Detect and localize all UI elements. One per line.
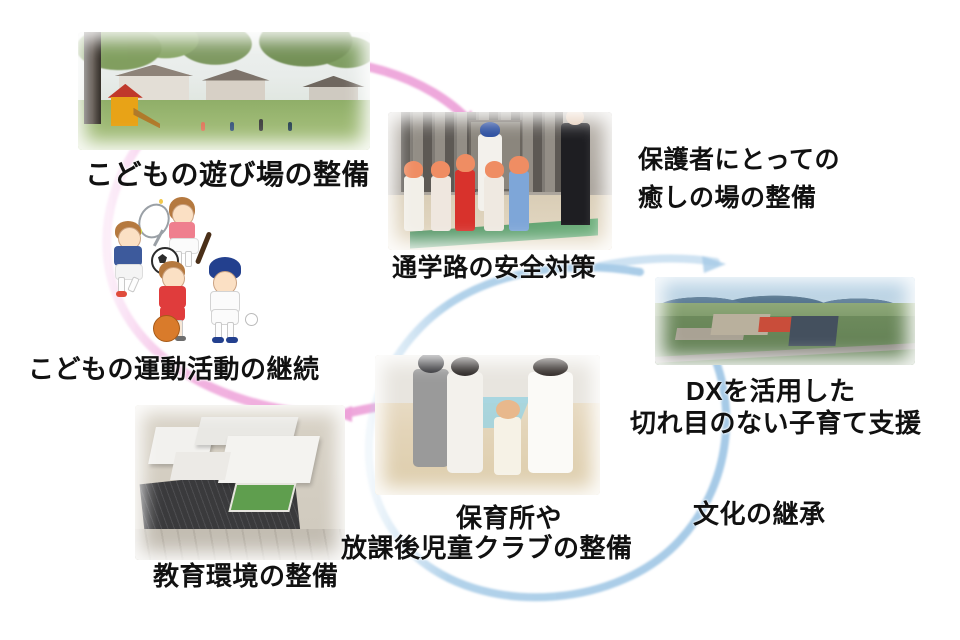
diagram-canvas: こどもの遊び場の整備 通学路の安全対策 保護者にとっての 癒しの場の整備 こども… bbox=[0, 0, 960, 640]
label-parent-relax-line2: 癒しの場の整備 bbox=[638, 184, 817, 214]
label-sports-activity: こどもの運動活動の継続 bbox=[28, 354, 320, 385]
label-playground: こどもの遊び場の整備 bbox=[85, 158, 370, 191]
label-nursery-line1: 保育所や bbox=[456, 503, 562, 534]
label-culture: 文化の継承 bbox=[693, 499, 826, 530]
commute-safety-photo bbox=[388, 112, 612, 250]
label-education-env: 教育環境の整備 bbox=[153, 561, 339, 592]
label-dx-line1: DXを活用した bbox=[686, 376, 856, 407]
city-aerial-photo bbox=[655, 277, 915, 365]
playground-photo bbox=[78, 32, 370, 150]
label-parent-relax-line1: 保護者にとっての bbox=[638, 146, 840, 176]
school-aerial-photo bbox=[135, 405, 345, 560]
label-nursery-line2: 放課後児童クラブの整備 bbox=[341, 533, 633, 564]
children-sports-illustration bbox=[105, 195, 263, 347]
label-dx-line2: 切れ目のない子育て支援 bbox=[630, 408, 922, 439]
nursery-photo bbox=[375, 355, 600, 495]
label-commute-safety: 通学路の安全対策 bbox=[392, 254, 596, 284]
